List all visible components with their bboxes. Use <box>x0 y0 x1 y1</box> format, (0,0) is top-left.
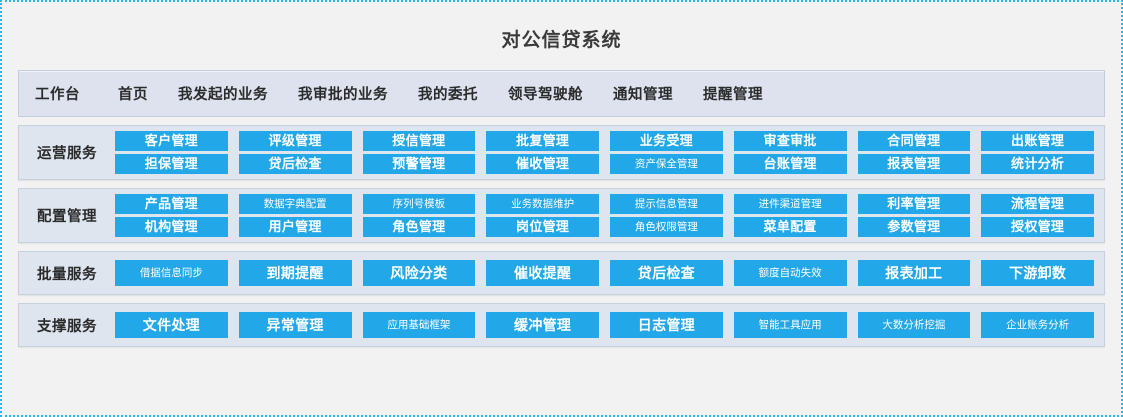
module-button[interactable]: 担保管理 <box>115 154 228 174</box>
page-title: 对公信贷系统 <box>2 2 1121 58</box>
module-button[interactable]: 业务受理 <box>610 131 723 151</box>
nav-item-2[interactable]: 首页 <box>118 83 148 104</box>
module-button[interactable]: 资产保全管理 <box>610 154 723 174</box>
module-button[interactable]: 下游卸数 <box>981 260 1094 286</box>
module-button[interactable]: 数据字典配置 <box>239 194 352 214</box>
nav-item-4[interactable]: 我审批的业务 <box>298 83 388 104</box>
module-sections: 运营服务客户管理评级管理授信管理批复管理业务受理审查审批合同管理出账管理担保管理… <box>2 125 1121 347</box>
module-button[interactable]: 审查审批 <box>734 131 847 151</box>
module-button[interactable]: 客户管理 <box>115 131 228 151</box>
module-button[interactable]: 日志管理 <box>610 312 723 338</box>
module-button[interactable]: 角色管理 <box>363 217 476 237</box>
module-button[interactable]: 批复管理 <box>486 131 599 151</box>
section-panel-1: 运营服务客户管理评级管理授信管理批复管理业务受理审查审批合同管理出账管理担保管理… <box>18 125 1105 180</box>
module-button[interactable]: 出账管理 <box>981 131 1094 151</box>
app-window: 对公信贷系统 工作台首页我发起的业务我审批的业务我的委托领导驾驶舱通知管理提醒管… <box>0 0 1123 417</box>
module-button[interactable]: 进件渠道管理 <box>734 194 847 214</box>
nav-item-6[interactable]: 领导驾驶舱 <box>508 83 583 104</box>
module-button[interactable]: 贷后检查 <box>239 154 352 174</box>
module-button[interactable]: 利率管理 <box>858 194 971 214</box>
module-button[interactable]: 文件处理 <box>115 312 228 338</box>
module-button[interactable]: 额度自动失效 <box>734 260 847 286</box>
module-button[interactable]: 参数管理 <box>858 217 971 237</box>
module-button[interactable]: 统计分析 <box>981 154 1094 174</box>
module-button[interactable]: 岗位管理 <box>486 217 599 237</box>
nav-item-7[interactable]: 通知管理 <box>613 83 673 104</box>
section-label-4: 支撑服务 <box>19 315 115 336</box>
module-button[interactable]: 企业账务分析 <box>981 312 1094 338</box>
module-button[interactable]: 产品管理 <box>115 194 228 214</box>
module-button[interactable]: 到期提醒 <box>239 260 352 286</box>
module-button[interactable]: 异常管理 <box>239 312 352 338</box>
module-button[interactable]: 贷后检查 <box>610 260 723 286</box>
section-button-grid-4: 文件处理异常管理应用基础框架缓冲管理日志管理智能工具应用大数分析挖掘企业账务分析 <box>115 312 1094 338</box>
module-button[interactable]: 催收管理 <box>486 154 599 174</box>
module-button[interactable]: 授信管理 <box>363 131 476 151</box>
module-button[interactable]: 角色权限管理 <box>610 217 723 237</box>
nav-item-5[interactable]: 我的委托 <box>418 83 478 104</box>
main-navigation-bar: 工作台首页我发起的业务我审批的业务我的委托领导驾驶舱通知管理提醒管理 <box>18 70 1105 117</box>
module-button[interactable]: 合同管理 <box>858 131 971 151</box>
module-button[interactable]: 报表加工 <box>858 260 971 286</box>
module-button[interactable]: 借据信息同步 <box>115 260 228 286</box>
module-button[interactable]: 催收提醒 <box>486 260 599 286</box>
module-button[interactable]: 用户管理 <box>239 217 352 237</box>
section-button-grid-1: 客户管理评级管理授信管理批复管理业务受理审查审批合同管理出账管理担保管理贷后检查… <box>115 131 1094 174</box>
module-button[interactable]: 预警管理 <box>363 154 476 174</box>
section-panel-3: 批量服务借据信息同步到期提醒风险分类催收提醒贷后检查额度自动失效报表加工下游卸数 <box>18 251 1105 295</box>
module-button[interactable]: 机构管理 <box>115 217 228 237</box>
section-label-3: 批量服务 <box>19 263 115 284</box>
module-button[interactable]: 序列号模板 <box>363 194 476 214</box>
module-button[interactable]: 授权管理 <box>981 217 1094 237</box>
section-panel-4: 支撑服务文件处理异常管理应用基础框架缓冲管理日志管理智能工具应用大数分析挖掘企业… <box>18 303 1105 347</box>
section-panel-2: 配置管理产品管理数据字典配置序列号模板业务数据维护提示信息管理进件渠道管理利率管… <box>18 188 1105 243</box>
module-button[interactable]: 缓冲管理 <box>486 312 599 338</box>
module-button[interactable]: 评级管理 <box>239 131 352 151</box>
section-label-1: 运营服务 <box>19 142 115 163</box>
nav-item-3[interactable]: 我发起的业务 <box>178 83 268 104</box>
module-button[interactable]: 业务数据维护 <box>486 194 599 214</box>
nav-item-1[interactable]: 工作台 <box>35 83 80 104</box>
section-label-2: 配置管理 <box>19 205 115 226</box>
module-button[interactable]: 大数分析挖掘 <box>858 312 971 338</box>
module-button[interactable]: 菜单配置 <box>734 217 847 237</box>
nav-item-8[interactable]: 提醒管理 <box>703 83 763 104</box>
section-button-grid-2: 产品管理数据字典配置序列号模板业务数据维护提示信息管理进件渠道管理利率管理流程管… <box>115 194 1094 237</box>
module-button[interactable]: 提示信息管理 <box>610 194 723 214</box>
module-button[interactable]: 台账管理 <box>734 154 847 174</box>
module-button[interactable]: 风险分类 <box>363 260 476 286</box>
module-button[interactable]: 智能工具应用 <box>734 312 847 338</box>
section-button-grid-3: 借据信息同步到期提醒风险分类催收提醒贷后检查额度自动失效报表加工下游卸数 <box>115 260 1094 286</box>
module-button[interactable]: 报表管理 <box>858 154 971 174</box>
module-button[interactable]: 应用基础框架 <box>363 312 476 338</box>
module-button[interactable]: 流程管理 <box>981 194 1094 214</box>
